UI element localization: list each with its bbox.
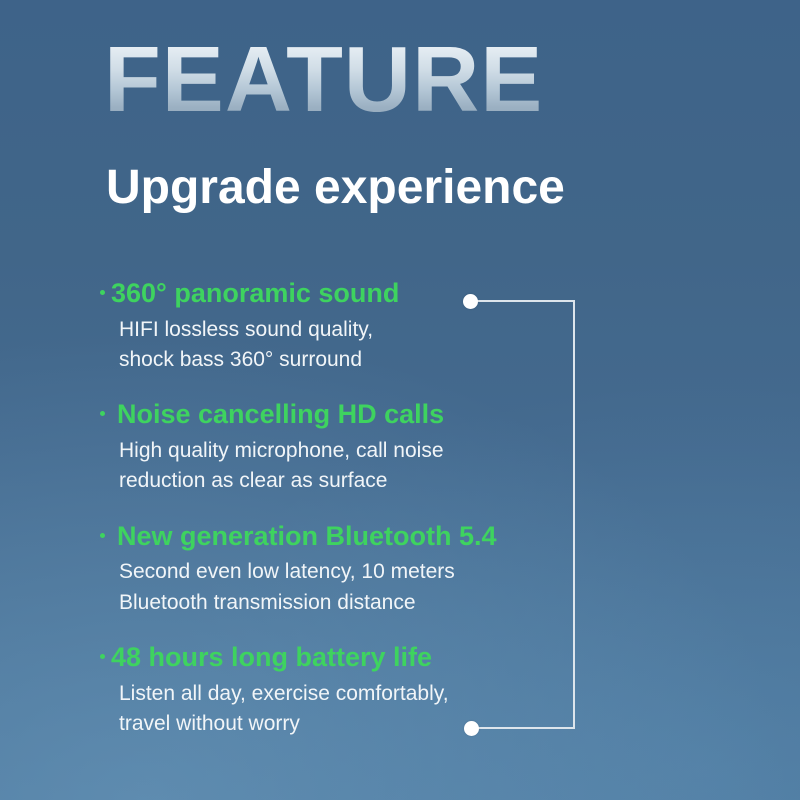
feature-description-line: shock bass 360° surround	[119, 345, 570, 375]
feature-description-line: HIFI lossless sound quality,	[119, 315, 570, 345]
feature-heading-text: 48 hours long battery life	[111, 640, 432, 675]
bullet-dot-icon	[100, 290, 105, 295]
bullet-dot-icon	[100, 411, 105, 416]
feature-description-line: High quality microphone, call noise	[119, 436, 570, 466]
bullet-dot-icon	[100, 654, 105, 659]
feature-item-bluetooth: New generation Bluetooth 5.4 Second even…	[100, 519, 570, 618]
feature-description: Listen all day, exercise comfortably, tr…	[100, 679, 570, 740]
feature-description-line: travel without worry	[119, 709, 570, 739]
title-block: FEATURE	[104, 34, 744, 125]
feature-description-line: reduction as clear as surface	[119, 466, 570, 496]
feature-heading: 48 hours long battery life	[100, 640, 570, 675]
feature-list: 360° panoramic sound HIFI lossless sound…	[100, 276, 570, 740]
feature-description: HIFI lossless sound quality, shock bass …	[100, 315, 570, 376]
feature-description-line: Bluetooth transmission distance	[119, 588, 570, 618]
feature-description: Second even low latency, 10 meters Bluet…	[100, 557, 570, 618]
feature-description: High quality microphone, call noise redu…	[100, 436, 570, 497]
page-subtitle: Upgrade experience	[106, 160, 565, 217]
feature-description-line: Listen all day, exercise comfortably,	[119, 679, 570, 709]
feature-heading-text: New generation Bluetooth 5.4	[117, 519, 497, 554]
feature-description-line: Second even low latency, 10 meters	[119, 557, 570, 587]
bullet-dot-icon	[100, 533, 105, 538]
page-title: FEATURE	[104, 34, 744, 125]
feature-item-panoramic-sound: 360° panoramic sound HIFI lossless sound…	[100, 276, 570, 375]
feature-item-battery-life: 48 hours long battery life Listen all da…	[100, 640, 570, 739]
feature-poster: FEATURE Upgrade experience 360° panorami…	[0, 0, 800, 800]
feature-heading-text: 360° panoramic sound	[111, 276, 399, 311]
feature-item-noise-cancelling: Noise cancelling HD calls High quality m…	[100, 397, 570, 496]
feature-heading-text: Noise cancelling HD calls	[117, 397, 444, 432]
feature-heading: 360° panoramic sound	[100, 276, 570, 311]
feature-heading: New generation Bluetooth 5.4	[100, 519, 570, 554]
feature-heading: Noise cancelling HD calls	[100, 397, 570, 432]
